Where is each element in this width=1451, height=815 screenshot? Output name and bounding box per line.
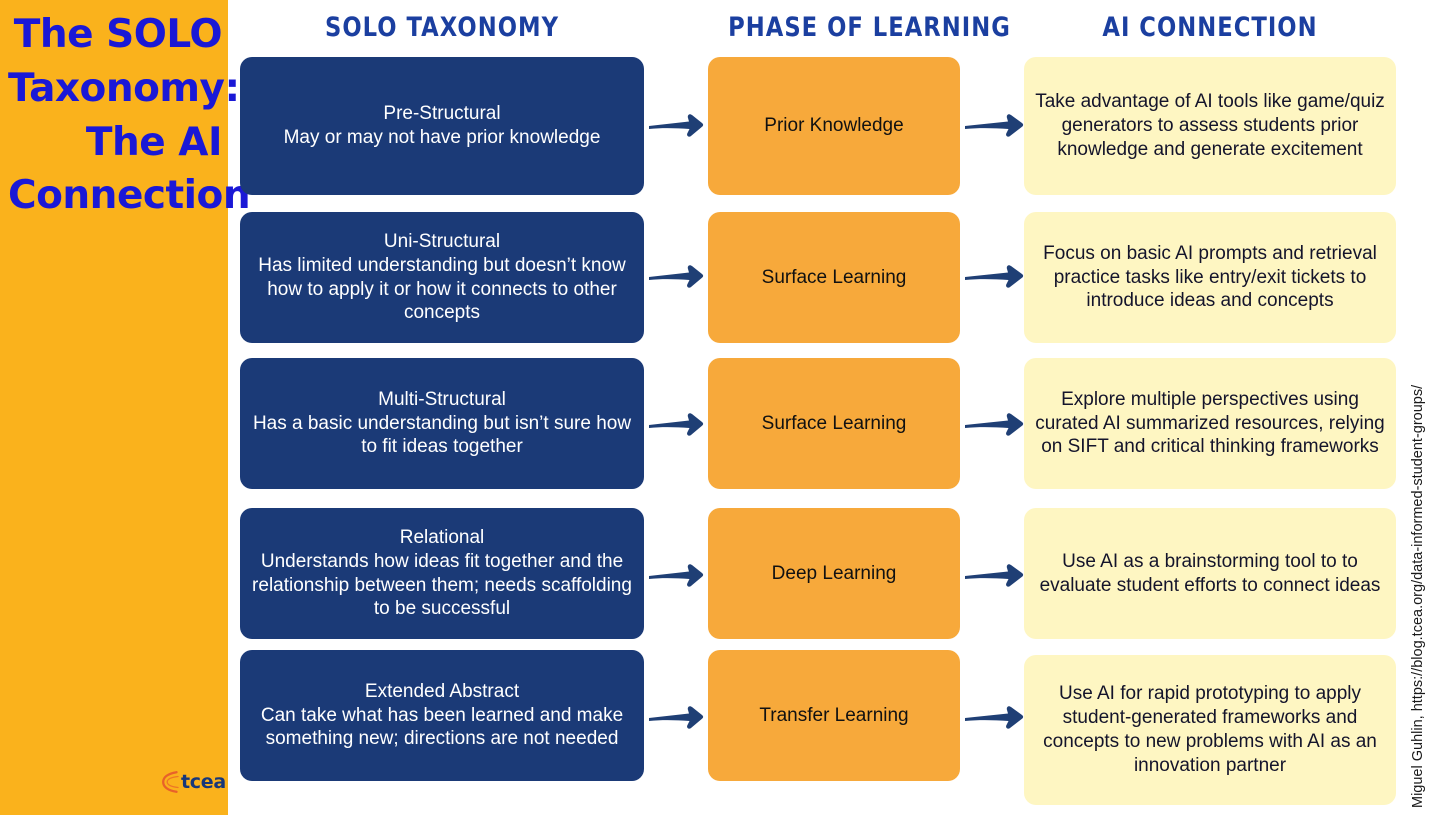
solo-level-text: Relational Understands how ideas fit tog… [250, 526, 634, 622]
solo-level-text: Pre-Structural May or may not have prior… [284, 102, 601, 150]
phase-text: Prior Knowledge [764, 114, 903, 138]
phase-box: Deep Learning [708, 508, 960, 639]
phase-text: Surface Learning [762, 412, 907, 436]
solo-level-text: Extended Abstract Can take what has been… [250, 680, 634, 752]
phase-text: Surface Learning [762, 266, 907, 290]
column-header-phase-of-learning: PHASE OF LEARNING [728, 12, 940, 43]
phase-text: Deep Learning [772, 562, 897, 586]
tcea-swoosh-icon [162, 771, 179, 793]
arrow-phase-to-ai-icon [964, 690, 1024, 747]
page-title-line-4: Connection [8, 173, 250, 218]
arrow-solo-to-phase-icon [648, 397, 704, 454]
phase-box: Transfer Learning [708, 650, 960, 781]
title-panel: The SOLOTaxonomy:The AIConnection tcea [0, 0, 228, 815]
page-title-line-3: The AI [86, 120, 222, 165]
arrow-phase-to-ai-icon [964, 548, 1024, 605]
phase-text: Transfer Learning [759, 704, 908, 728]
solo-level-box: Uni-Structural Has limited understanding… [240, 212, 644, 343]
arrow-phase-to-ai-icon [964, 249, 1024, 306]
arrow-phase-to-ai-icon [964, 397, 1024, 454]
ai-connection-box: Take advantage of AI tools like game/qui… [1024, 57, 1396, 195]
arrow-solo-to-phase-icon [648, 690, 704, 747]
page-title-line-1: The SOLO [14, 12, 222, 57]
ai-connection-text: Explore multiple perspectives using cura… [1034, 388, 1386, 460]
ai-connection-text: Focus on basic AI prompts and retrieval … [1034, 242, 1386, 314]
phase-box: Surface Learning [708, 212, 960, 343]
solo-level-box: Pre-Structural May or may not have prior… [240, 57, 644, 195]
ai-connection-box: Use AI as a brainstorming tool to to eva… [1024, 508, 1396, 639]
page-title-line-2: Taxonomy: [8, 66, 240, 111]
tcea-wordmark: tcea [181, 773, 226, 792]
solo-level-text: Uni-Structural Has limited understanding… [250, 230, 634, 326]
ai-connection-box: Use AI for rapid prototyping to apply st… [1024, 655, 1396, 805]
solo-level-text: Multi-Structural Has a basic understandi… [250, 388, 634, 460]
infographic-canvas: The SOLOTaxonomy:The AIConnection tcea S… [0, 0, 1451, 815]
solo-level-box: Extended Abstract Can take what has been… [240, 650, 644, 781]
ai-connection-text: Use AI as a brainstorming tool to to eva… [1034, 550, 1386, 598]
page-title: The SOLOTaxonomy:The AIConnection [0, 8, 228, 223]
ai-connection-text: Use AI for rapid prototyping to apply st… [1034, 682, 1386, 778]
solo-level-box: Multi-Structural Has a basic understandi… [240, 358, 644, 489]
column-header-solo-taxonomy: SOLO TAXONOMY [272, 12, 611, 43]
arrow-solo-to-phase-icon [648, 98, 704, 155]
attribution-text: Miguel Guhlin, https://blog.tcea.org/dat… [1410, 268, 1426, 808]
column-header-ai-connection: AI CONNECTION [1054, 12, 1366, 43]
arrow-solo-to-phase-icon [648, 548, 704, 605]
tcea-logo: tcea [162, 771, 226, 793]
solo-level-box: Relational Understands how ideas fit tog… [240, 508, 644, 639]
ai-connection-box: Explore multiple perspectives using cura… [1024, 358, 1396, 489]
arrow-solo-to-phase-icon [648, 249, 704, 306]
arrow-phase-to-ai-icon [964, 98, 1024, 155]
ai-connection-box: Focus on basic AI prompts and retrieval … [1024, 212, 1396, 343]
ai-connection-text: Take advantage of AI tools like game/qui… [1034, 90, 1386, 162]
phase-box: Prior Knowledge [708, 57, 960, 195]
phase-box: Surface Learning [708, 358, 960, 489]
